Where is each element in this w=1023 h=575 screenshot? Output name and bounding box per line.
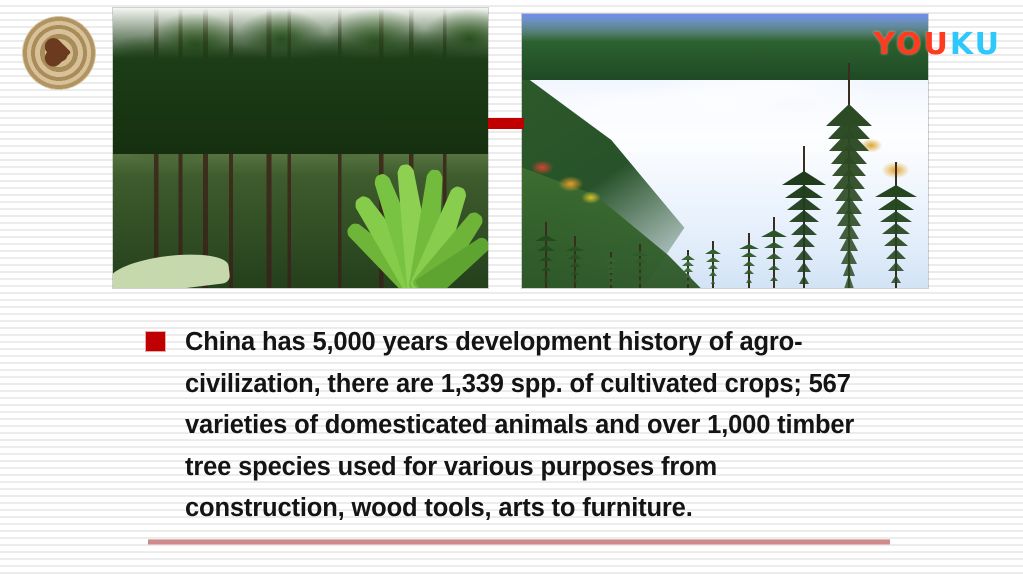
tree-ring-heart-icon — [22, 16, 96, 90]
rainforest-understory-layer — [113, 8, 488, 154]
youku-watermark-you: YOU — [873, 27, 950, 62]
bottom-divider — [148, 539, 890, 545]
youku-watermark-ku: KU — [950, 27, 1001, 62]
misty-mountain-forest-photo — [522, 14, 928, 288]
conifer-tree-icon — [704, 241, 721, 288]
red-connector-bar — [488, 118, 524, 129]
conifer-tree-icon — [535, 222, 557, 288]
conifer-tree-icon — [604, 252, 618, 288]
conifer-tree-icon — [782, 146, 826, 288]
conifer-tree-icon — [631, 244, 648, 288]
conifer-tree-icon — [565, 236, 584, 288]
tropical-rainforest-photo — [113, 8, 488, 288]
presentation-slide: YOUKU China has 5,000 years development … — [0, 0, 1023, 575]
bullet-paragraph: China has 5,000 years development histor… — [145, 322, 875, 530]
body-text: China has 5,000 years development histor… — [185, 322, 875, 530]
conifer-tree-icon — [739, 233, 759, 288]
bullet-square-icon — [145, 331, 166, 352]
conifer-tree-icon — [875, 162, 917, 288]
conifer-tree-icon — [681, 250, 696, 288]
heart-icon — [47, 40, 71, 64]
conifer-tree-icon — [826, 63, 872, 288]
banana-plant-icon — [322, 135, 489, 288]
youku-watermark: YOUKU — [873, 30, 1001, 60]
